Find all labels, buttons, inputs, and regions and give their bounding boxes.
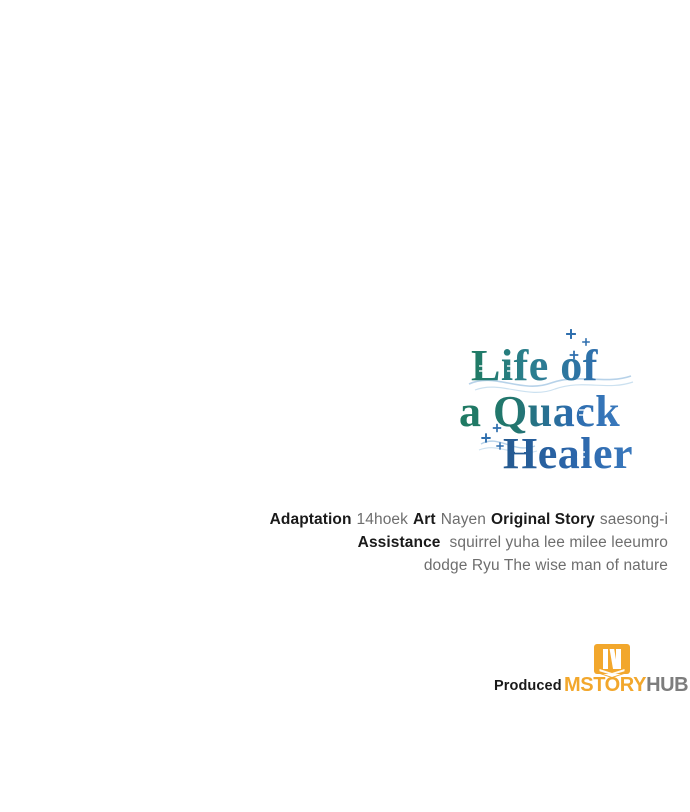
open-book-icon [594, 644, 630, 678]
title-line-1: Life of [471, 341, 599, 390]
title-logo: Life of a Quack Healer [455, 322, 670, 482]
credit-label-art: Art [413, 511, 436, 528]
credits-line-3: dodge Ryu The wise man of nature [180, 554, 668, 577]
brand-primary-text: MSTORY [564, 674, 646, 696]
producer-label: Produced [494, 678, 562, 694]
credit-value-assistance: squirrel yuha lee milee leeumro [450, 534, 668, 551]
credits-block: Adaptation14hoekArtNayenOriginal Storysa… [180, 508, 668, 577]
credit-value-adaptation: 14hoek [357, 511, 408, 528]
mstoryhub-logo: MSTORYHUB [564, 644, 674, 700]
mstoryhub-wordmark: MSTORYHUB [564, 674, 688, 697]
brand-secondary-text: HUB [646, 674, 688, 696]
credit-value-original-story: saesong-i [600, 511, 668, 528]
credit-label-assistance: Assistance [358, 534, 441, 551]
page-canvas: Life of a Quack Healer Adaptation14hoekA… [0, 0, 690, 812]
credit-value-assistance-cont: dodge Ryu The wise man of nature [424, 557, 668, 574]
credits-line-2: Assistancesquirrel yuha lee milee leeumr… [180, 531, 668, 554]
credit-label-original-story: Original Story [491, 511, 595, 528]
title-line-3: Healer [503, 429, 633, 478]
credit-label-adaptation: Adaptation [270, 511, 352, 528]
producer-block: Produced MSTORYHUB [494, 644, 674, 700]
credit-value-art: Nayen [441, 511, 486, 528]
credits-line-1: Adaptation14hoekArtNayenOriginal Storysa… [180, 508, 668, 531]
